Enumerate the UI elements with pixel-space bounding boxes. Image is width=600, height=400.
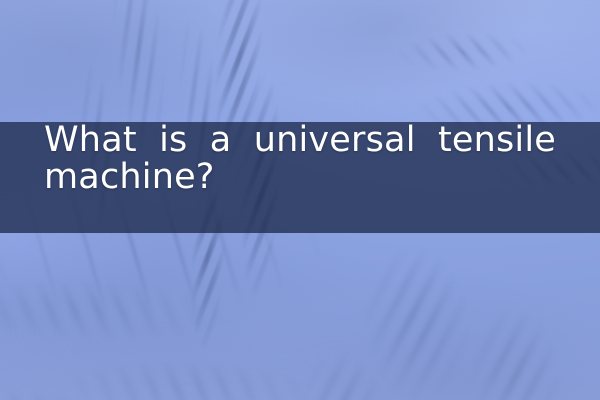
title-card: What is a universal tensile machine? [0, 0, 600, 400]
caption-band: What is a universal tensile machine? [0, 122, 600, 233]
caption-title: What is a universal tensile machine? [44, 122, 556, 233]
